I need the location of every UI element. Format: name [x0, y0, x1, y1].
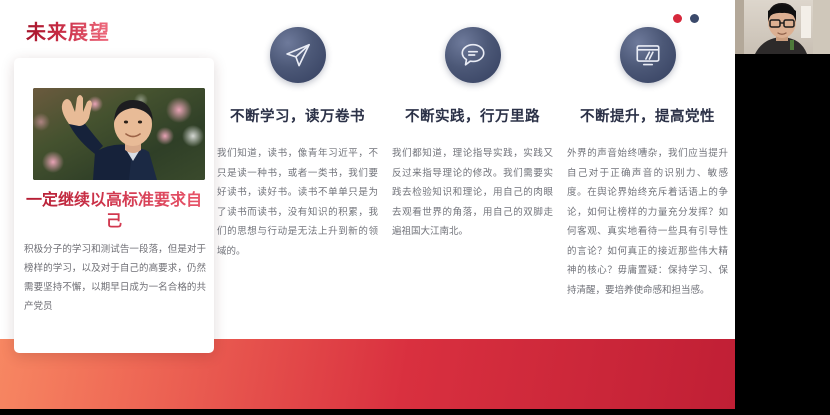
letterbox-right	[735, 54, 830, 415]
column-heading: 不断提升，提高党性	[580, 105, 715, 126]
webcam-video[interactable]	[735, 0, 830, 54]
portrait-photo	[33, 88, 205, 180]
dot-blue-icon	[690, 14, 699, 23]
monitor-icon	[620, 27, 676, 83]
column-heading: 不断实践，行万里路	[405, 105, 540, 126]
column-body-text: 我们知道，读书，像青年习近平，不只是读一种书，或者一类书，我们要好读书，读好书。…	[217, 144, 378, 261]
column-body-text: 我们都知道，理论指导实践，实践又反过来指导理论的修改。我们需要实践去检验知识和理…	[392, 144, 553, 242]
column-body-text: 外界的声音始终嘈杂，我们应当提升自己对于正确声音的识别力、敏感度。在舆论界始终充…	[567, 144, 728, 300]
presentation-slide: 未来展望	[0, 0, 735, 412]
chat-bubble-icon	[445, 27, 501, 83]
page-title: 未来展望	[26, 16, 110, 45]
screen-share-view: 未来展望	[0, 0, 830, 415]
left-content-card: 一定继续以高标准要求自己 积极分子的学习和测试告一段落，但是对于榜样的学习，以及…	[14, 58, 214, 353]
column-heading: 不断学习，读万卷书	[230, 105, 365, 126]
dot-red-icon	[673, 14, 682, 23]
letterbox-bottom	[0, 409, 735, 412]
feature-columns: 不断学习，读万卷书 我们知道，读书，像青年习近平，不只是读一种书，或者一类书，我…	[210, 14, 735, 344]
card-heading: 一定继续以高标准要求自己	[22, 190, 206, 232]
feature-column-2: 不断实践，行万里路 我们都知道，理论指导实践，实践又反过来指导理论的修改。我们需…	[385, 14, 560, 344]
paper-plane-icon	[270, 27, 326, 83]
card-body-text: 积极分子的学习和测试告一段落，但是对于榜样的学习，以及对于自己的高要求，仍然需要…	[24, 240, 206, 316]
feature-column-3: 不断提升，提高党性 外界的声音始终嘈杂，我们应当提升自己对于正确声音的识别力、敏…	[560, 14, 735, 344]
decorative-dots	[673, 14, 699, 23]
feature-column-1: 不断学习，读万卷书 我们知道，读书，像青年习近平，不只是读一种书，或者一类书，我…	[210, 14, 385, 344]
